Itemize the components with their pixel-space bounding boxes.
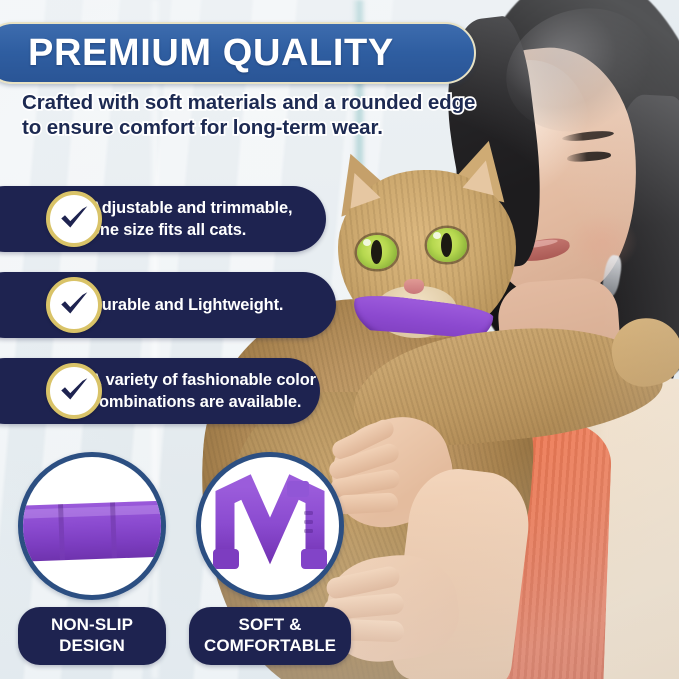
bullet-3-line-2: combinations are available. [90,391,316,413]
bullet-2-text: Durable and Lightweight. [90,294,283,316]
soft-comfortable-label: SOFT & COMFORTABLE [189,607,351,665]
non-slip-label-line-2: DESIGN [24,635,160,656]
premium-quality-banner: PREMIUM QUALITY [0,22,476,84]
banner-title: PREMIUM QUALITY [28,32,394,75]
collar-strap-m-shape-graphic [201,457,339,595]
non-slip-label: NON-SLIP DESIGN [18,607,166,665]
soft-comfortable-circle [196,452,344,600]
strap-rib [160,501,166,557]
feature-badge-soft-comfortable: SOFT & COMFORTABLE [196,452,344,665]
subtitle-line-1: Crafted with soft materials and a rounde… [22,90,522,115]
non-slip-label-line-1: NON-SLIP [24,614,160,635]
feature-badge-non-slip: NON-SLIP DESIGN [18,452,166,665]
checkmark-badge-3 [46,363,102,419]
non-slip-circle [18,452,166,600]
collar-strap-closeup-graphic [18,500,166,562]
soft-label-line-1: SOFT & [195,614,345,635]
bullet-1-line-1: Adjustable and trimmable, [90,197,292,219]
strap-highlight [18,504,166,519]
soft-label-line-2: COMFORTABLE [195,635,345,656]
bullet-1-line-2: one size fits all cats. [90,219,292,241]
checkmark-icon [57,288,91,322]
product-infographic: PREMIUM QUALITY Crafted with soft materi… [0,0,679,679]
checkmark-icon [57,374,91,408]
bullet-1-text: Adjustable and trimmable, one size fits … [90,197,292,241]
bullet-3-text: A variety of fashionable color combinati… [90,369,316,413]
checkmark-icon [57,202,91,236]
bullet-3-line-1: A variety of fashionable color [90,369,316,391]
bullet-2-line-1: Durable and Lightweight. [90,294,283,316]
subtitle-line-2: to ensure comfort for long-term wear. [22,115,522,140]
subtitle-block: Crafted with soft materials and a rounde… [22,90,522,140]
checkmark-badge-1 [46,191,102,247]
checkmark-badge-2 [46,277,102,333]
m-strap-svg [201,457,339,595]
